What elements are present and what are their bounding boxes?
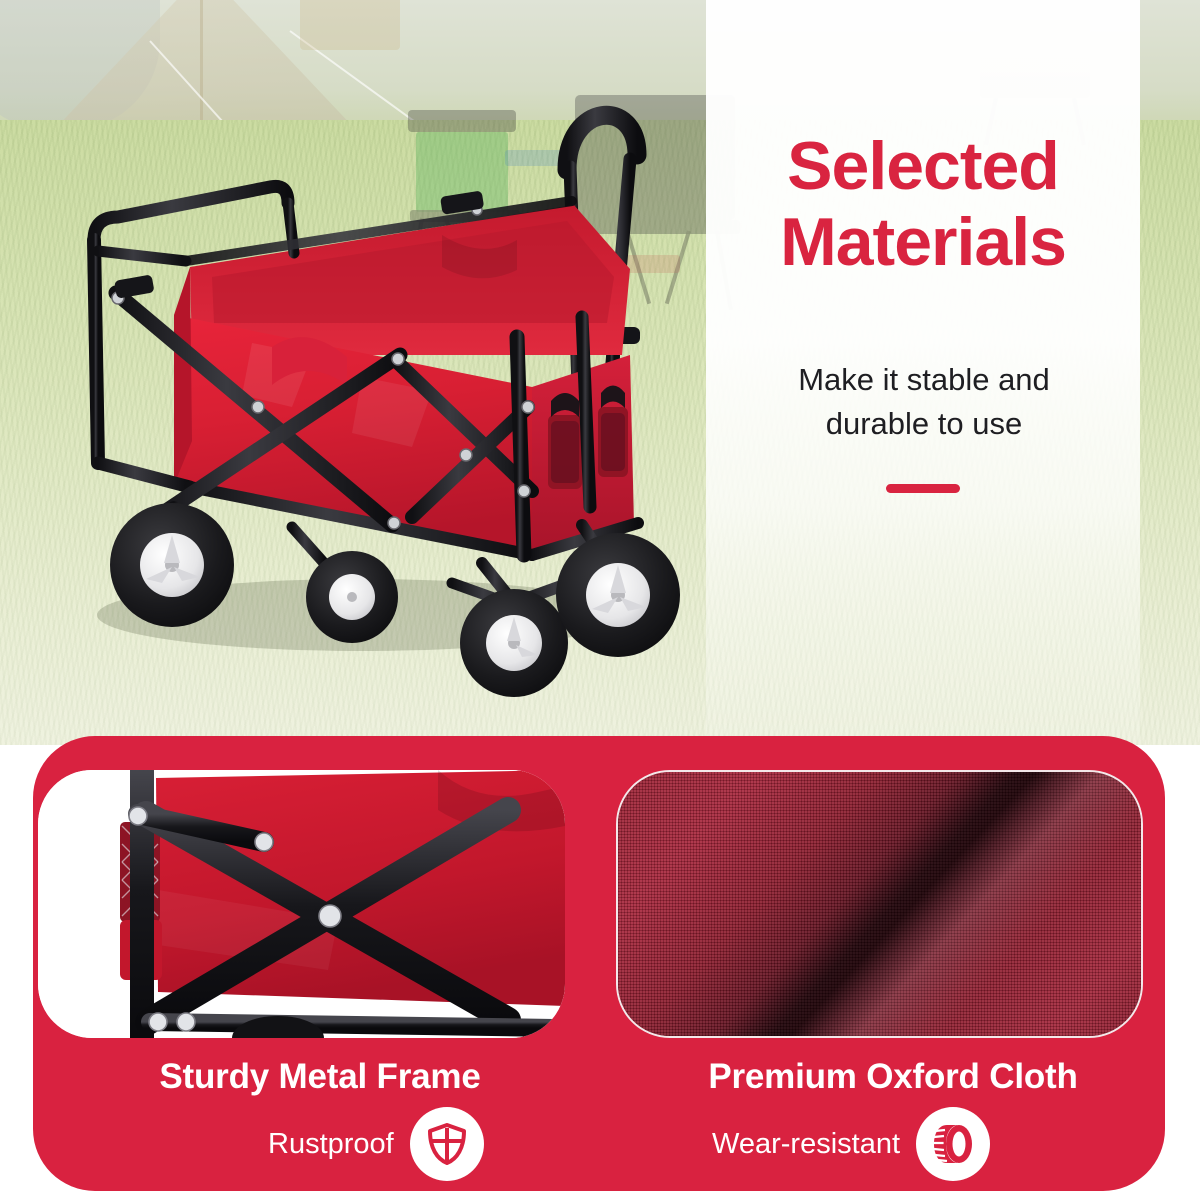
hero-subtitle: Make it stable and durable to use: [714, 358, 1134, 446]
feature-subtitle-rustproof: Rustproof: [268, 1128, 394, 1161]
feature-title-oxford-cloth: Premium Oxford Cloth: [613, 1057, 1173, 1097]
shield-icon: [410, 1107, 484, 1181]
feature-badge-rustproof: Rustproof: [268, 1105, 484, 1183]
hero-text-panel: Selected Materials Make it stable and du…: [706, 0, 1140, 745]
feature-badge-wear-resistant: Wear-resistant: [712, 1105, 990, 1183]
feature-image-metal-frame: [38, 770, 565, 1038]
page-title: Selected Materials: [706, 128, 1140, 280]
hero-section: Selected Materials Make it stable and du…: [0, 0, 1200, 745]
feature-image-oxford-cloth: [616, 770, 1143, 1038]
subtitle-line-2: durable to use: [826, 406, 1022, 441]
subtitle-line-1: Make it stable and: [798, 362, 1050, 397]
product-image-wagon: [62, 55, 682, 675]
feature-title-metal-frame: Sturdy Metal Frame: [40, 1057, 600, 1097]
accent-divider: [886, 484, 960, 493]
cloth-fold-shadow: [616, 770, 1143, 1038]
headline-line-2: Materials: [706, 204, 1140, 280]
tire-icon: [916, 1107, 990, 1181]
headline-line-1: Selected: [787, 128, 1059, 204]
feature-subtitle-wear-resistant: Wear-resistant: [712, 1128, 900, 1161]
